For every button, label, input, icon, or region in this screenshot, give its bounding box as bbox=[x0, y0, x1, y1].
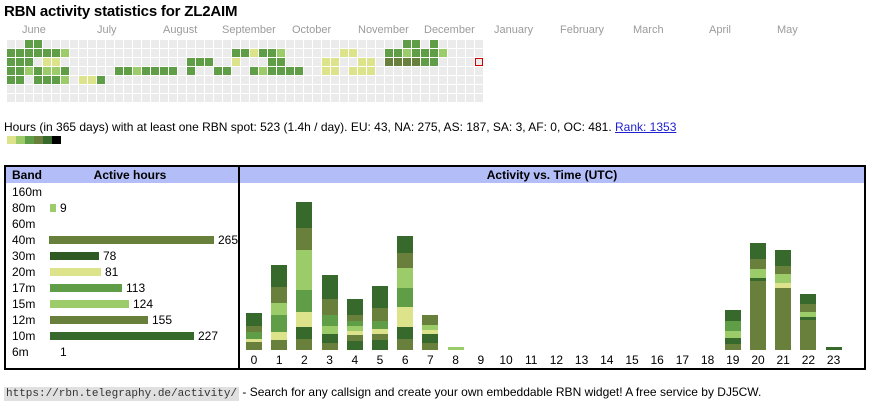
calendar-cell[interactable] bbox=[205, 67, 213, 75]
calendar-cell[interactable] bbox=[313, 58, 321, 66]
calendar-cell[interactable] bbox=[133, 76, 141, 84]
hour-bar[interactable] bbox=[826, 347, 842, 350]
calendar-cell[interactable] bbox=[394, 49, 402, 57]
calendar-cell[interactable] bbox=[196, 85, 204, 93]
calendar-cell[interactable] bbox=[394, 58, 402, 66]
calendar-cell[interactable] bbox=[286, 58, 294, 66]
calendar-cell[interactable] bbox=[214, 58, 222, 66]
calendar-cell[interactable] bbox=[313, 67, 321, 75]
calendar-cell[interactable] bbox=[241, 40, 249, 48]
calendar-cell[interactable] bbox=[223, 40, 231, 48]
calendar-cell[interactable] bbox=[277, 76, 285, 84]
calendar-cell[interactable] bbox=[43, 58, 51, 66]
calendar-cell[interactable] bbox=[25, 67, 33, 75]
calendar-cell[interactable] bbox=[124, 58, 132, 66]
calendar-cell[interactable] bbox=[43, 94, 51, 102]
calendar-cell[interactable] bbox=[313, 49, 321, 57]
calendar-cell[interactable] bbox=[142, 58, 150, 66]
calendar-cell[interactable] bbox=[295, 94, 303, 102]
calendar-cell[interactable] bbox=[448, 85, 456, 93]
calendar-cell[interactable] bbox=[205, 49, 213, 57]
calendar-cell[interactable] bbox=[142, 85, 150, 93]
calendar-cell[interactable] bbox=[430, 67, 438, 75]
calendar-cell[interactable] bbox=[196, 94, 204, 102]
calendar-cell[interactable] bbox=[349, 85, 357, 93]
hour-bar[interactable] bbox=[246, 313, 262, 350]
calendar-cell[interactable] bbox=[124, 76, 132, 84]
calendar-cell[interactable] bbox=[268, 76, 276, 84]
calendar-cell[interactable] bbox=[70, 40, 78, 48]
calendar-cell[interactable] bbox=[196, 40, 204, 48]
calendar-cell[interactable] bbox=[151, 67, 159, 75]
calendar-cell[interactable] bbox=[133, 40, 141, 48]
calendar-cell[interactable] bbox=[187, 49, 195, 57]
calendar-cell[interactable] bbox=[97, 85, 105, 93]
calendar-cell[interactable] bbox=[169, 76, 177, 84]
calendar-cell[interactable] bbox=[376, 40, 384, 48]
calendar-cell[interactable] bbox=[70, 58, 78, 66]
calendar-cell[interactable] bbox=[61, 49, 69, 57]
calendar-cell[interactable] bbox=[403, 58, 411, 66]
calendar-cell[interactable] bbox=[187, 94, 195, 102]
calendar-cell[interactable] bbox=[367, 67, 375, 75]
calendar-cell[interactable] bbox=[430, 58, 438, 66]
calendar-cell[interactable] bbox=[187, 67, 195, 75]
calendar-cell[interactable] bbox=[457, 76, 465, 84]
calendar-cell[interactable] bbox=[70, 85, 78, 93]
calendar-cell[interactable] bbox=[97, 40, 105, 48]
calendar-cell[interactable] bbox=[88, 67, 96, 75]
calendar-cell[interactable] bbox=[475, 49, 483, 57]
calendar-cell[interactable] bbox=[250, 76, 258, 84]
calendar-cell[interactable] bbox=[88, 94, 96, 102]
calendar-cell[interactable] bbox=[151, 94, 159, 102]
calendar-cell[interactable] bbox=[133, 85, 141, 93]
calendar-cell[interactable] bbox=[475, 76, 483, 84]
hour-bar[interactable] bbox=[448, 347, 464, 350]
calendar-cell[interactable] bbox=[376, 58, 384, 66]
calendar-cell[interactable] bbox=[349, 58, 357, 66]
calendar-cell[interactable] bbox=[61, 76, 69, 84]
calendar-cell[interactable] bbox=[340, 67, 348, 75]
calendar-cell[interactable] bbox=[457, 40, 465, 48]
calendar-cell[interactable] bbox=[97, 67, 105, 75]
calendar-cell[interactable] bbox=[25, 40, 33, 48]
calendar-cell[interactable] bbox=[304, 40, 312, 48]
calendar-cell[interactable] bbox=[340, 94, 348, 102]
hour-bar[interactable] bbox=[271, 265, 287, 350]
calendar-cell[interactable] bbox=[250, 67, 258, 75]
calendar-cell[interactable] bbox=[358, 49, 366, 57]
calendar-cell[interactable] bbox=[295, 40, 303, 48]
calendar-cell[interactable] bbox=[439, 49, 447, 57]
calendar-cell[interactable] bbox=[367, 76, 375, 84]
calendar-cell[interactable] bbox=[376, 85, 384, 93]
calendar-cell[interactable] bbox=[7, 85, 15, 93]
calendar-cell[interactable] bbox=[466, 67, 474, 75]
calendar-cell[interactable] bbox=[178, 67, 186, 75]
calendar-cell[interactable] bbox=[466, 76, 474, 84]
calendar-cell[interactable] bbox=[241, 67, 249, 75]
calendar-cell[interactable] bbox=[232, 49, 240, 57]
calendar-cell[interactable] bbox=[34, 40, 42, 48]
calendar-cell[interactable] bbox=[214, 40, 222, 48]
calendar-cell[interactable] bbox=[421, 76, 429, 84]
calendar-cell[interactable] bbox=[187, 85, 195, 93]
calendar-cell[interactable] bbox=[106, 76, 114, 84]
calendar-cell[interactable] bbox=[421, 67, 429, 75]
calendar-cell[interactable] bbox=[376, 76, 384, 84]
calendar-cell[interactable] bbox=[142, 40, 150, 48]
calendar-cell[interactable] bbox=[232, 94, 240, 102]
calendar-cell[interactable] bbox=[34, 49, 42, 57]
calendar-cell[interactable] bbox=[349, 94, 357, 102]
calendar-cell[interactable] bbox=[241, 94, 249, 102]
calendar-cell[interactable] bbox=[412, 40, 420, 48]
calendar-cell[interactable] bbox=[214, 76, 222, 84]
calendar-cell[interactable] bbox=[241, 85, 249, 93]
calendar-cell[interactable] bbox=[178, 85, 186, 93]
calendar-cell[interactable] bbox=[295, 67, 303, 75]
calendar-cell[interactable] bbox=[304, 76, 312, 84]
calendar-cell[interactable] bbox=[34, 94, 42, 102]
calendar-cell[interactable] bbox=[232, 67, 240, 75]
calendar-cell-today[interactable] bbox=[475, 58, 483, 66]
calendar-cell[interactable] bbox=[88, 49, 96, 57]
hour-bar[interactable] bbox=[372, 286, 388, 350]
calendar-cell[interactable] bbox=[367, 94, 375, 102]
calendar-cell[interactable] bbox=[16, 58, 24, 66]
calendar-cell[interactable] bbox=[331, 40, 339, 48]
calendar-cell[interactable] bbox=[412, 67, 420, 75]
calendar-cell[interactable] bbox=[196, 76, 204, 84]
calendar-cell[interactable] bbox=[322, 67, 330, 75]
calendar-cell[interactable] bbox=[133, 49, 141, 57]
calendar-cell[interactable] bbox=[358, 58, 366, 66]
calendar-cell[interactable] bbox=[403, 40, 411, 48]
calendar-cell[interactable] bbox=[322, 49, 330, 57]
calendar-cell[interactable] bbox=[34, 85, 42, 93]
calendar-cell[interactable] bbox=[133, 94, 141, 102]
calendar-cell[interactable] bbox=[97, 49, 105, 57]
calendar-cell[interactable] bbox=[142, 94, 150, 102]
calendar-cell[interactable] bbox=[52, 76, 60, 84]
calendar-cell[interactable] bbox=[367, 49, 375, 57]
calendar-cell[interactable] bbox=[466, 85, 474, 93]
calendar-cell[interactable] bbox=[259, 94, 267, 102]
calendar-cell[interactable] bbox=[196, 49, 204, 57]
calendar-cell[interactable] bbox=[358, 67, 366, 75]
calendar-cell[interactable] bbox=[25, 76, 33, 84]
calendar-cell[interactable] bbox=[223, 85, 231, 93]
calendar-cell[interactable] bbox=[331, 49, 339, 57]
calendar-cell[interactable] bbox=[448, 49, 456, 57]
calendar-cell[interactable] bbox=[376, 49, 384, 57]
calendar-cell[interactable] bbox=[412, 58, 420, 66]
calendar-cell[interactable] bbox=[115, 85, 123, 93]
calendar-cell[interactable] bbox=[295, 76, 303, 84]
calendar-cell[interactable] bbox=[358, 76, 366, 84]
calendar-cell[interactable] bbox=[277, 67, 285, 75]
calendar-cell[interactable] bbox=[214, 94, 222, 102]
calendar-cell[interactable] bbox=[160, 58, 168, 66]
calendar-cell[interactable] bbox=[376, 94, 384, 102]
calendar-cell[interactable] bbox=[295, 49, 303, 57]
calendar-cell[interactable] bbox=[412, 76, 420, 84]
calendar-cell[interactable] bbox=[160, 67, 168, 75]
calendar-cell[interactable] bbox=[304, 67, 312, 75]
calendar-cell[interactable] bbox=[286, 67, 294, 75]
calendar-cell[interactable] bbox=[7, 49, 15, 57]
calendar-cell[interactable] bbox=[403, 67, 411, 75]
calendar-cell[interactable] bbox=[70, 67, 78, 75]
calendar-cell[interactable] bbox=[448, 67, 456, 75]
calendar-cell[interactable] bbox=[277, 85, 285, 93]
calendar-cell[interactable] bbox=[61, 40, 69, 48]
calendar-cell[interactable] bbox=[259, 76, 267, 84]
calendar-cell[interactable] bbox=[259, 40, 267, 48]
calendar-cell[interactable] bbox=[106, 58, 114, 66]
calendar-cell[interactable] bbox=[151, 49, 159, 57]
calendar-cell[interactable] bbox=[448, 58, 456, 66]
calendar-cell[interactable] bbox=[115, 94, 123, 102]
calendar-cell[interactable] bbox=[232, 40, 240, 48]
calendar-cell[interactable] bbox=[412, 94, 420, 102]
calendar-cell[interactable] bbox=[466, 94, 474, 102]
calendar-cell[interactable] bbox=[340, 58, 348, 66]
calendar-cell[interactable] bbox=[304, 49, 312, 57]
calendar-cell[interactable] bbox=[466, 40, 474, 48]
calendar-cell[interactable] bbox=[385, 94, 393, 102]
calendar-cell[interactable] bbox=[358, 85, 366, 93]
calendar-cell[interactable] bbox=[43, 40, 51, 48]
calendar-cell[interactable] bbox=[340, 76, 348, 84]
calendar-cell[interactable] bbox=[403, 76, 411, 84]
calendar-cell[interactable] bbox=[196, 67, 204, 75]
calendar-cell[interactable] bbox=[277, 58, 285, 66]
calendar-cell[interactable] bbox=[34, 58, 42, 66]
calendar-cell[interactable] bbox=[214, 85, 222, 93]
calendar-cell[interactable] bbox=[286, 49, 294, 57]
hour-bar[interactable] bbox=[296, 202, 312, 350]
calendar-cell[interactable] bbox=[232, 76, 240, 84]
hour-bar[interactable] bbox=[800, 294, 816, 350]
calendar-cell[interactable] bbox=[43, 49, 51, 57]
calendar-cell[interactable] bbox=[322, 40, 330, 48]
calendar-cell[interactable] bbox=[421, 49, 429, 57]
calendar-cell[interactable] bbox=[223, 76, 231, 84]
calendar-cell[interactable] bbox=[232, 58, 240, 66]
calendar-cell[interactable] bbox=[124, 94, 132, 102]
calendar-cell[interactable] bbox=[430, 40, 438, 48]
calendar-cell[interactable] bbox=[178, 76, 186, 84]
service-url[interactable]: https://rbn.telegraphy.de/activity/ bbox=[4, 387, 239, 401]
calendar-cell[interactable] bbox=[178, 94, 186, 102]
calendar-cell[interactable] bbox=[16, 49, 24, 57]
calendar-cell[interactable] bbox=[367, 58, 375, 66]
calendar-cell[interactable] bbox=[250, 85, 258, 93]
calendar-cell[interactable] bbox=[277, 94, 285, 102]
calendar-cell[interactable] bbox=[304, 85, 312, 93]
calendar-cell[interactable] bbox=[205, 58, 213, 66]
calendar-cell[interactable] bbox=[286, 85, 294, 93]
calendar-cell[interactable] bbox=[439, 94, 447, 102]
calendar-cell[interactable] bbox=[385, 58, 393, 66]
calendar-cell[interactable] bbox=[358, 40, 366, 48]
calendar-cell[interactable] bbox=[322, 76, 330, 84]
calendar-cell[interactable] bbox=[7, 40, 15, 48]
calendar-cell[interactable] bbox=[142, 67, 150, 75]
calendar-cell[interactable] bbox=[268, 85, 276, 93]
calendar-cell[interactable] bbox=[124, 67, 132, 75]
calendar-cell[interactable] bbox=[79, 58, 87, 66]
calendar-cell[interactable] bbox=[88, 76, 96, 84]
calendar-cell[interactable] bbox=[358, 94, 366, 102]
calendar-cell[interactable] bbox=[70, 94, 78, 102]
calendar-cell[interactable] bbox=[97, 76, 105, 84]
calendar-cell[interactable] bbox=[475, 94, 483, 102]
calendar-cell[interactable] bbox=[268, 94, 276, 102]
calendar-cell[interactable] bbox=[133, 67, 141, 75]
calendar-cell[interactable] bbox=[286, 40, 294, 48]
calendar-cell[interactable] bbox=[205, 76, 213, 84]
calendar-cell[interactable] bbox=[106, 40, 114, 48]
calendar-cell[interactable] bbox=[250, 40, 258, 48]
calendar-cell[interactable] bbox=[52, 58, 60, 66]
calendar-cell[interactable] bbox=[421, 58, 429, 66]
calendar-cell[interactable] bbox=[205, 40, 213, 48]
calendar-cell[interactable] bbox=[25, 85, 33, 93]
calendar-cell[interactable] bbox=[457, 58, 465, 66]
calendar-cell[interactable] bbox=[439, 40, 447, 48]
calendar-cell[interactable] bbox=[412, 85, 420, 93]
hour-bar[interactable] bbox=[347, 299, 363, 350]
calendar-cell[interactable] bbox=[124, 49, 132, 57]
calendar-cell[interactable] bbox=[214, 67, 222, 75]
calendar-cell[interactable] bbox=[178, 58, 186, 66]
calendar-cell[interactable] bbox=[331, 76, 339, 84]
calendar-cell[interactable] bbox=[160, 85, 168, 93]
calendar-cell[interactable] bbox=[124, 40, 132, 48]
calendar-cell[interactable] bbox=[187, 58, 195, 66]
calendar-cell[interactable] bbox=[223, 49, 231, 57]
calendar-cell[interactable] bbox=[115, 76, 123, 84]
calendar-cell[interactable] bbox=[151, 85, 159, 93]
calendar-cell[interactable] bbox=[304, 94, 312, 102]
calendar-cell[interactable] bbox=[7, 94, 15, 102]
calendar-cell[interactable] bbox=[277, 40, 285, 48]
calendar-cell[interactable] bbox=[295, 85, 303, 93]
calendar-cell[interactable] bbox=[52, 94, 60, 102]
calendar-cell[interactable] bbox=[457, 49, 465, 57]
calendar-cell[interactable] bbox=[223, 67, 231, 75]
calendar-cell[interactable] bbox=[439, 85, 447, 93]
calendar-cell[interactable] bbox=[25, 58, 33, 66]
calendar-cell[interactable] bbox=[115, 49, 123, 57]
calendar-cell[interactable] bbox=[70, 76, 78, 84]
calendar-cell[interactable] bbox=[385, 40, 393, 48]
calendar-cell[interactable] bbox=[187, 76, 195, 84]
calendar-cell[interactable] bbox=[43, 67, 51, 75]
calendar-cell[interactable] bbox=[304, 58, 312, 66]
calendar-cell[interactable] bbox=[250, 49, 258, 57]
calendar-cell[interactable] bbox=[331, 67, 339, 75]
calendar-cell[interactable] bbox=[169, 49, 177, 57]
calendar-cell[interactable] bbox=[430, 85, 438, 93]
calendar-cell[interactable] bbox=[277, 49, 285, 57]
calendar-cell[interactable] bbox=[394, 76, 402, 84]
calendar-cell[interactable] bbox=[430, 94, 438, 102]
calendar-cell[interactable] bbox=[457, 85, 465, 93]
calendar-cell[interactable] bbox=[340, 40, 348, 48]
calendar-cell[interactable] bbox=[322, 85, 330, 93]
calendar-cell[interactable] bbox=[79, 40, 87, 48]
calendar-cell[interactable] bbox=[142, 76, 150, 84]
calendar-cell[interactable] bbox=[106, 67, 114, 75]
calendar-cell[interactable] bbox=[286, 94, 294, 102]
calendar-cell[interactable] bbox=[16, 40, 24, 48]
calendar-cell[interactable] bbox=[106, 49, 114, 57]
calendar-cell[interactable] bbox=[205, 94, 213, 102]
calendar-cell[interactable] bbox=[61, 85, 69, 93]
calendar-cell[interactable] bbox=[178, 49, 186, 57]
calendar-cell[interactable] bbox=[169, 67, 177, 75]
calendar-cell[interactable] bbox=[115, 67, 123, 75]
calendar-cell[interactable] bbox=[313, 85, 321, 93]
calendar-cell[interactable] bbox=[7, 76, 15, 84]
calendar-cell[interactable] bbox=[61, 67, 69, 75]
calendar-cell[interactable] bbox=[70, 49, 78, 57]
calendar-cell[interactable] bbox=[34, 76, 42, 84]
calendar-cell[interactable] bbox=[448, 40, 456, 48]
calendar-cell[interactable] bbox=[196, 58, 204, 66]
calendar-cell[interactable] bbox=[241, 76, 249, 84]
calendar-cell[interactable] bbox=[313, 94, 321, 102]
calendar-cell[interactable] bbox=[88, 40, 96, 48]
calendar-cell[interactable] bbox=[43, 76, 51, 84]
calendar-cell[interactable] bbox=[142, 49, 150, 57]
calendar-cell[interactable] bbox=[385, 76, 393, 84]
calendar-cell[interactable] bbox=[349, 40, 357, 48]
calendar-cell[interactable] bbox=[394, 67, 402, 75]
calendar-cell[interactable] bbox=[439, 76, 447, 84]
calendar-cell[interactable] bbox=[430, 76, 438, 84]
calendar-cell[interactable] bbox=[187, 40, 195, 48]
calendar-cell[interactable] bbox=[403, 49, 411, 57]
calendar-cell[interactable] bbox=[430, 49, 438, 57]
calendar-cell[interactable] bbox=[106, 94, 114, 102]
calendar-cell[interactable] bbox=[268, 40, 276, 48]
calendar-cell[interactable] bbox=[349, 67, 357, 75]
calendar-cell[interactable] bbox=[160, 76, 168, 84]
calendar-cell[interactable] bbox=[133, 58, 141, 66]
calendar-cell[interactable] bbox=[232, 85, 240, 93]
calendar-cell[interactable] bbox=[286, 76, 294, 84]
calendar-cell[interactable] bbox=[178, 40, 186, 48]
calendar-cell[interactable] bbox=[313, 40, 321, 48]
calendar-cell[interactable] bbox=[385, 49, 393, 57]
calendar-cell[interactable] bbox=[385, 67, 393, 75]
calendar-cell[interactable] bbox=[349, 76, 357, 84]
calendar-cell[interactable] bbox=[331, 94, 339, 102]
calendar-cell[interactable] bbox=[475, 67, 483, 75]
calendar-cell[interactable] bbox=[457, 94, 465, 102]
calendar-cell[interactable] bbox=[16, 76, 24, 84]
calendar-cell[interactable] bbox=[448, 76, 456, 84]
calendar-cell[interactable] bbox=[241, 58, 249, 66]
calendar-cell[interactable] bbox=[367, 85, 375, 93]
calendar-cell[interactable] bbox=[268, 58, 276, 66]
